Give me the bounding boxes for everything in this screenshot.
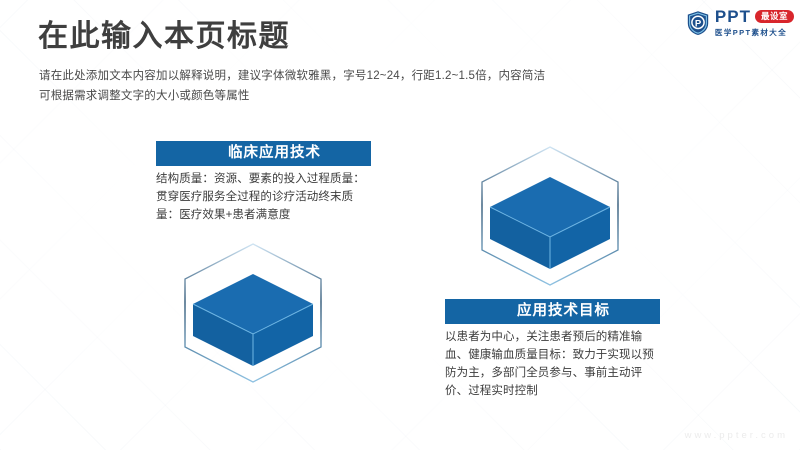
block-body-text-left: 结构质量：资源、要素的投入过程质量：贯穿医疗服务全过程的诊疗活动终末质量：医疗效… <box>156 170 371 224</box>
isometric-cube-in-hexagon-icon <box>158 238 348 388</box>
page-subtitle-line-1: 请在此处添加文本内容加以解释说明，建议字体微软雅黑，字号12~24，行距1.2~… <box>39 66 659 86</box>
page-subtitle: 请在此处添加文本内容加以解释说明，建议字体微软雅黑，字号12~24，行距1.2~… <box>39 66 659 106</box>
svg-text:P: P <box>695 18 702 29</box>
block-body-text-right: 以患者为中心，关注患者预后的精准输血、健康输血质量目标：致力于实现以预防为主，多… <box>445 328 660 401</box>
content-block-clinical-application-technology: 临床应用技术 结构质量：资源、要素的投入过程质量：贯穿医疗服务全过程的诊疗活动终… <box>156 141 371 388</box>
block-heading-bar-right: 应用技术目标 <box>445 299 660 324</box>
block-heading-bar-left: 临床应用技术 <box>156 141 371 166</box>
logo-tagline: 医学PPT素材大全 <box>715 27 787 38</box>
logo-badge: 最设室 <box>755 10 794 23</box>
page-title: 在此输入本页标题 <box>38 20 290 53</box>
isometric-cube-in-hexagon-icon <box>455 141 645 291</box>
page-subtitle-line-2: 可根据需求调整文字的大小或颜色等属性 <box>39 86 659 106</box>
content-block-application-technology-goal: 应用技术目标 以患者为中心，关注患者预后的精准输血、健康输血质量目标：致力于实现… <box>445 141 660 401</box>
shield-icon: P <box>686 10 710 36</box>
logo-wordmark: PPT <box>715 8 751 25</box>
brand-logo: P PPT 最设室 医学PPT素材大全 <box>686 7 794 39</box>
site-watermark: www.ppter.com <box>685 430 788 441</box>
